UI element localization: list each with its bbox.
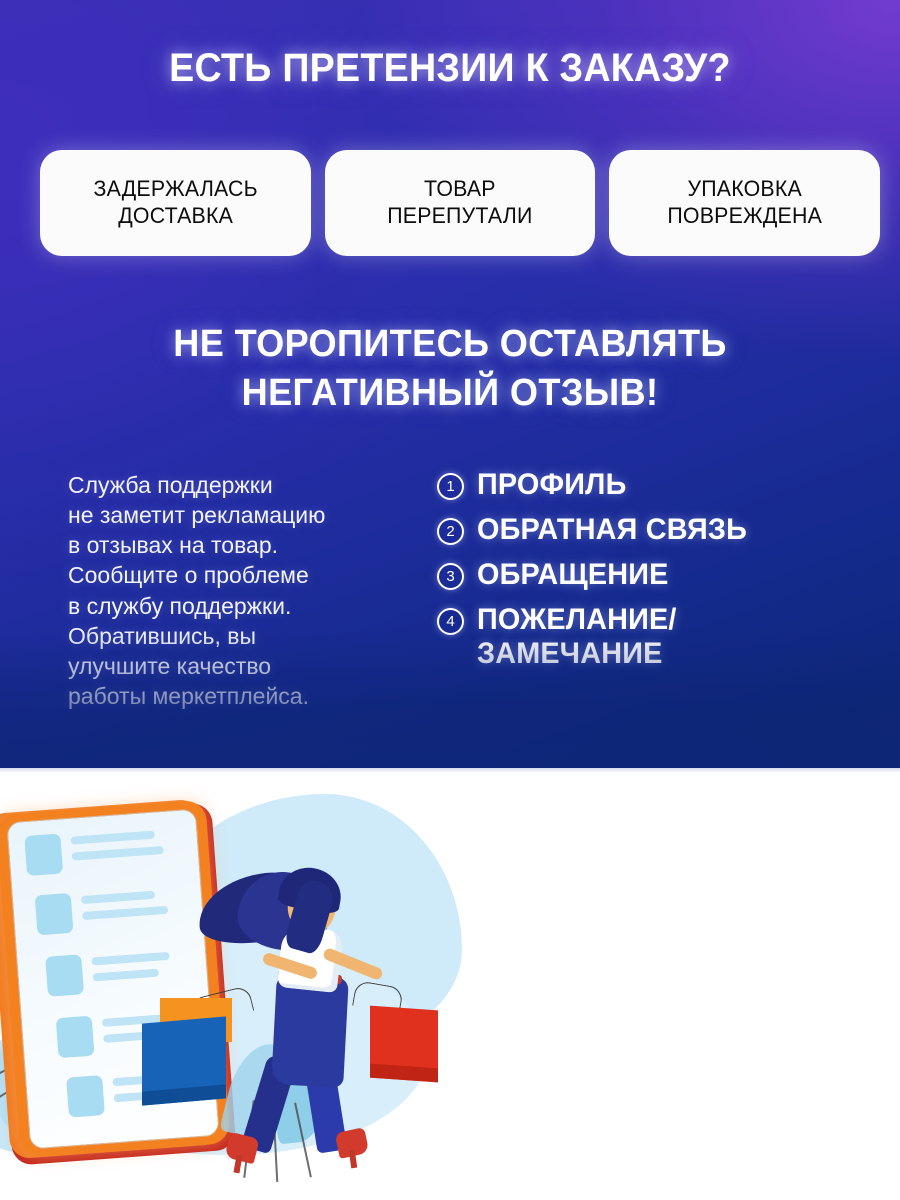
step-item-request: 3 ОБРАЩЕНИЕ <box>437 558 867 592</box>
step-label-line-1: ПРОФИЛЬ <box>477 468 626 502</box>
hero-subtitle: НЕ ТОРОПИТЕСЬ ОСТАВЛЯТЬ НЕГАТИВНЫЙ ОТЗЫВ… <box>0 320 900 419</box>
paragraph-line: работы меркетплейса. <box>68 681 398 711</box>
step-label: ПРОФИЛЬ <box>477 468 626 502</box>
complaint-card-damaged-packaging[interactable]: УПАКОВКА ПОВРЕЖДЕНА <box>609 150 880 256</box>
page-title: ЕСТЬ ПРЕТЕНЗИИ К ЗАКАЗУ? <box>27 46 873 91</box>
woman-pants <box>271 974 349 1088</box>
complaint-card-wrong-item[interactable]: ТОВАР ПЕРЕПУТАЛИ <box>325 150 596 256</box>
card-line-2: ПОВРЕЖДЕНА <box>667 203 822 230</box>
support-paragraph: Служба поддержки не заметит рекламацию в… <box>68 470 398 711</box>
complaint-cards: ЗАДЕРЖАЛАСЬ ДОСТАВКА ТОВАР ПЕРЕПУТАЛИ УП… <box>40 150 880 256</box>
card-line-1: ЗАДЕРЖАЛАСЬ <box>93 176 257 203</box>
step-label-line-1: ОБРАТНАЯ СВЯЗЬ <box>477 513 747 547</box>
step-number-badge: 1 <box>437 473 464 500</box>
card-line-2: ДОСТАВКА <box>93 203 257 230</box>
paragraph-line: Обратившись, вы <box>68 621 398 651</box>
shopping-illustration <box>0 770 462 1200</box>
step-label-line-1: ПОЖЕЛАНИЕ/ <box>477 603 677 637</box>
phone-icon <box>0 800 230 1158</box>
step-number-badge: 4 <box>437 608 464 635</box>
step-label: ОБРАТНАЯ СВЯЗЬ <box>477 513 747 547</box>
step-label-line-1: ОБРАЩЕНИЕ <box>477 558 669 592</box>
bottom-section: БУДЬТЕ ВНИМАТЕЛЬНЫ! Проверяйте свой зака… <box>0 768 900 1200</box>
paragraph-line: Сообщите о проблеме <box>68 560 398 590</box>
paragraph-line: в службу поддержки. <box>68 591 398 621</box>
card-line-1: УПАКОВКА <box>667 176 822 203</box>
step-number-badge: 3 <box>437 563 464 590</box>
step-label: ОБРАЩЕНИЕ <box>477 558 669 592</box>
promo-banner: ЕСТЬ ПРЕТЕНЗИИ К ЗАКАЗУ? ЗАДЕРЖАЛАСЬ ДОС… <box>0 0 900 1200</box>
step-label: ПОЖЕЛАНИЕ/ ЗАМЕЧАНИЕ <box>477 603 677 671</box>
paragraph-line: не заметит рекламацию <box>68 500 398 530</box>
paragraph-line: Служба поддержки <box>68 470 398 500</box>
hero-subtitle-line-1: НЕ ТОРОПИТЕСЬ ОСТАВЛЯТЬ <box>23 320 878 369</box>
complaint-card-delivery-delayed[interactable]: ЗАДЕРЖАЛАСЬ ДОСТАВКА <box>40 150 311 256</box>
hero-subtitle-line-2: НЕГАТИВНЫЙ ОТЗЫВ! <box>23 369 878 418</box>
paragraph-line: в отзывах на товар. <box>68 530 398 560</box>
step-item-profile: 1 ПРОФИЛЬ <box>437 468 867 502</box>
step-number-badge: 2 <box>437 518 464 545</box>
steps-list: 1 ПРОФИЛЬ 2 ОБРАТНАЯ СВЯЗЬ 3 ОБРАЩЕНИЕ 4 <box>437 468 867 670</box>
step-label-line-2: ЗАМЕЧАНИЕ <box>477 637 677 671</box>
step-item-feedback: 2 ОБРАТНАЯ СВЯЗЬ <box>437 513 867 547</box>
card-line-2: ПЕРЕПУТАЛИ <box>387 203 532 230</box>
paragraph-line: улучшите качество <box>68 651 398 681</box>
hero-section: ЕСТЬ ПРЕТЕНЗИИ К ЗАКАЗУ? ЗАДЕРЖАЛАСЬ ДОС… <box>0 0 900 768</box>
step-item-wish-remark: 4 ПОЖЕЛАНИЕ/ ЗАМЕЧАНИЕ <box>437 603 867 671</box>
card-line-1: ТОВАР <box>387 176 532 203</box>
